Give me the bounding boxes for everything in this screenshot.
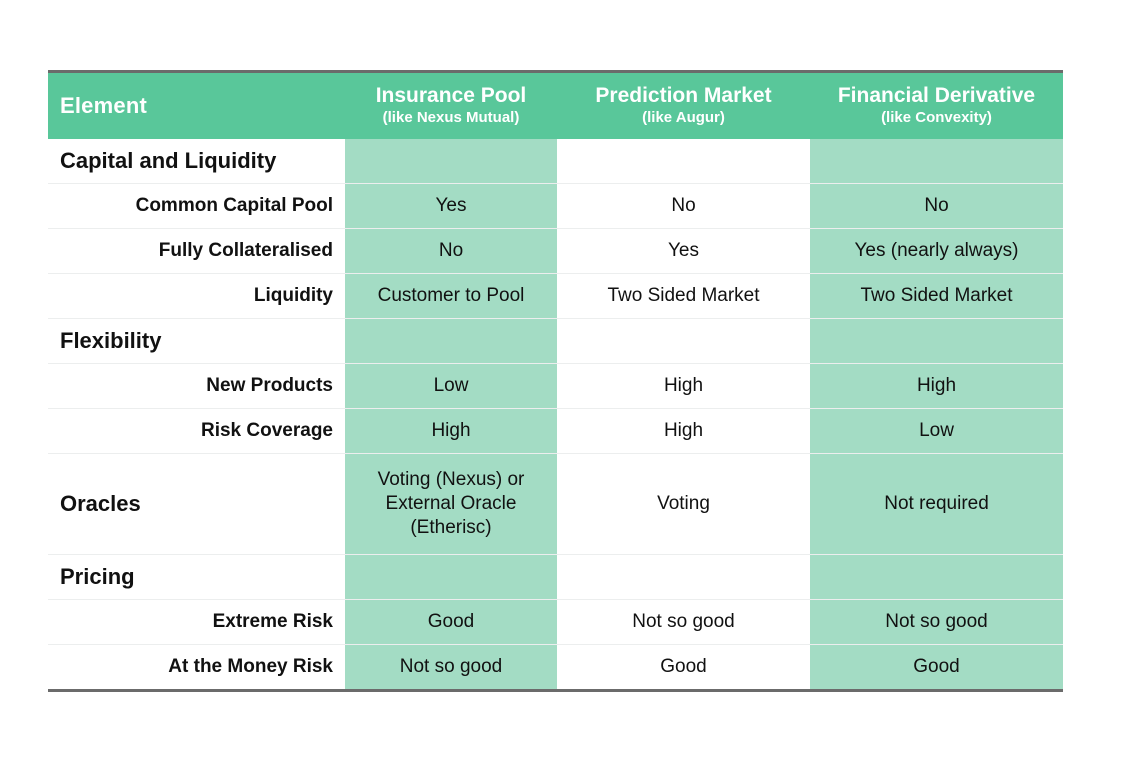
cell-value-text: High [810, 371, 1063, 401]
cell-value-text: High [345, 416, 557, 446]
table-cell-insurance_pool [345, 554, 557, 599]
cell-value-text: Two Sided Market [557, 281, 810, 311]
comparison-table: Element Insurance Pool (like Nexus Mutua… [48, 70, 1063, 692]
cell-value-text: Good [557, 652, 810, 682]
row-label-text: Pricing [60, 564, 345, 590]
table-cell-financial_derivative [810, 554, 1063, 599]
cell-value-text: Two Sided Market [810, 281, 1063, 311]
table-cell-prediction_market [557, 139, 810, 184]
cell-value-text: No [810, 191, 1063, 221]
table-cell-insurance_pool: Voting (Nexus) orExternal Oracle(Etheris… [345, 453, 557, 554]
table-cell-financial_derivative: Two Sided Market [810, 273, 1063, 318]
row-label-item: Liquidity [48, 273, 345, 318]
cell-value-text: Customer to Pool [345, 281, 557, 311]
table-cell-prediction_market [557, 554, 810, 599]
table-header: Element Insurance Pool (like Nexus Mutua… [48, 72, 1063, 139]
row-label-text: Liquidity [48, 285, 333, 307]
column-header-prediction-market-sublabel: (like Augur) [563, 108, 804, 127]
cell-value-line: Not so good [816, 610, 1057, 634]
cell-value-line: Two Sided Market [563, 284, 804, 308]
column-header-prediction-market: Prediction Market (like Augur) [557, 72, 810, 139]
cell-value-text: Not so good [557, 607, 810, 637]
cell-value-text: Voting [557, 489, 810, 519]
cell-value-text: Not required [810, 489, 1063, 519]
table-row: Fully CollateralisedNoYesYes (nearly alw… [48, 228, 1063, 273]
cell-value-line: Voting (Nexus) or [351, 468, 551, 492]
table-cell-prediction_market: High [557, 408, 810, 453]
table-row: New ProductsLowHighHigh [48, 363, 1063, 408]
column-header-insurance-pool-sublabel: (like Nexus Mutual) [351, 108, 551, 127]
table-cell-insurance_pool: High [345, 408, 557, 453]
comparison-table-container: Element Insurance Pool (like Nexus Mutua… [48, 70, 1063, 692]
table-row: At the Money RiskNot so goodGoodGood [48, 644, 1063, 690]
cell-value-line: External Oracle [351, 492, 551, 516]
row-label-item: Fully Collateralised [48, 228, 345, 273]
table-row: Flexibility [48, 318, 1063, 363]
cell-value-text: High [557, 371, 810, 401]
cell-value-line: Two Sided Market [816, 284, 1057, 308]
cell-value-text: Yes (nearly always) [810, 236, 1063, 266]
table-cell-prediction_market [557, 318, 810, 363]
cell-value-text: Yes [345, 191, 557, 221]
cell-value-line: No [351, 239, 551, 263]
table-cell-financial_derivative [810, 139, 1063, 184]
column-header-financial-derivative: Financial Derivative (like Convexity) [810, 72, 1063, 139]
column-header-prediction-market-label: Prediction Market [563, 84, 804, 108]
row-label-text: Capital and Liquidity [60, 148, 345, 174]
table-cell-financial_derivative: Good [810, 644, 1063, 690]
table-cell-prediction_market: Yes [557, 228, 810, 273]
cell-value-line: High [563, 374, 804, 398]
cell-value-line: High [351, 419, 551, 443]
cell-value-line: (Etherisc) [351, 516, 551, 540]
column-header-financial-derivative-label: Financial Derivative [816, 84, 1057, 108]
table-cell-prediction_market: Good [557, 644, 810, 690]
table-row: LiquidityCustomer to PoolTwo Sided Marke… [48, 273, 1063, 318]
cell-value-line: High [816, 374, 1057, 398]
cell-value-text: Yes [557, 236, 810, 266]
table-row: Risk CoverageHighHighLow [48, 408, 1063, 453]
cell-value-text: Voting (Nexus) orExternal Oracle(Etheris… [345, 465, 557, 543]
table-cell-insurance_pool: Low [345, 363, 557, 408]
row-label-text: Risk Coverage [48, 420, 333, 442]
cell-value-text: No [557, 191, 810, 221]
table-cell-financial_derivative: Not so good [810, 599, 1063, 644]
cell-value-line: Yes [351, 194, 551, 218]
row-label-text: Common Capital Pool [48, 195, 333, 217]
cell-value-line: Good [816, 655, 1057, 679]
row-label-section: Oracles [48, 453, 345, 554]
table-cell-insurance_pool [345, 139, 557, 184]
cell-value-line: No [563, 194, 804, 218]
table-cell-insurance_pool: Not so good [345, 644, 557, 690]
column-header-element-label: Element [60, 93, 147, 118]
cell-value-line: Low [351, 374, 551, 398]
cell-value-line: Customer to Pool [351, 284, 551, 308]
table-row: Capital and Liquidity [48, 139, 1063, 184]
table-row: Extreme RiskGoodNot so goodNot so good [48, 599, 1063, 644]
table-cell-financial_derivative: No [810, 183, 1063, 228]
cell-value-line: Good [351, 610, 551, 634]
cell-value-line: No [816, 194, 1057, 218]
row-label-text: Oracles [60, 491, 345, 517]
row-label-item: Common Capital Pool [48, 183, 345, 228]
header-row: Element Insurance Pool (like Nexus Mutua… [48, 72, 1063, 139]
row-label-text: New Products [48, 375, 333, 397]
cell-value-text: Good [345, 607, 557, 637]
table-cell-insurance_pool: No [345, 228, 557, 273]
cell-value-text: Low [345, 371, 557, 401]
table-cell-prediction_market: Two Sided Market [557, 273, 810, 318]
table-cell-insurance_pool: Yes [345, 183, 557, 228]
cell-value-line: High [563, 419, 804, 443]
row-label-section: Pricing [48, 554, 345, 599]
cell-value-line: Not so good [351, 655, 551, 679]
cell-value-line: Good [563, 655, 804, 679]
table-cell-prediction_market: No [557, 183, 810, 228]
table-cell-insurance_pool: Good [345, 599, 557, 644]
cell-value-line: Low [816, 419, 1057, 443]
row-label-section: Capital and Liquidity [48, 139, 345, 184]
table-cell-financial_derivative: Low [810, 408, 1063, 453]
table-cell-financial_derivative: Not required [810, 453, 1063, 554]
row-label-text: Extreme Risk [48, 611, 333, 633]
table-cell-prediction_market: Voting [557, 453, 810, 554]
cell-value-text: Good [810, 652, 1063, 682]
cell-value-line: Not so good [563, 610, 804, 634]
table-row: Common Capital PoolYesNoNo [48, 183, 1063, 228]
row-label-text: Flexibility [60, 328, 345, 354]
column-header-insurance-pool-label: Insurance Pool [351, 84, 551, 108]
row-label-item: Extreme Risk [48, 599, 345, 644]
cell-value-text: Not so good [345, 652, 557, 682]
row-label-item: Risk Coverage [48, 408, 345, 453]
table-cell-financial_derivative: High [810, 363, 1063, 408]
table-cell-financial_derivative [810, 318, 1063, 363]
cell-value-text: Not so good [810, 607, 1063, 637]
column-header-financial-derivative-sublabel: (like Convexity) [816, 108, 1057, 127]
row-label-item: At the Money Risk [48, 644, 345, 690]
table-cell-prediction_market: Not so good [557, 599, 810, 644]
table-cell-financial_derivative: Yes (nearly always) [810, 228, 1063, 273]
table-cell-insurance_pool: Customer to Pool [345, 273, 557, 318]
row-label-text: Fully Collateralised [48, 240, 333, 262]
table-body: Capital and LiquidityCommon Capital Pool… [48, 139, 1063, 691]
row-label-section: Flexibility [48, 318, 345, 363]
row-label-text: At the Money Risk [48, 656, 333, 678]
table-cell-insurance_pool [345, 318, 557, 363]
table-row: Pricing [48, 554, 1063, 599]
cell-value-line: Yes (nearly always) [816, 239, 1057, 263]
cell-value-line: Yes [563, 239, 804, 263]
cell-value-text: Low [810, 416, 1063, 446]
cell-value-text: High [557, 416, 810, 446]
column-header-insurance-pool: Insurance Pool (like Nexus Mutual) [345, 72, 557, 139]
column-header-element: Element [48, 72, 345, 139]
table-cell-prediction_market: High [557, 363, 810, 408]
row-label-item: New Products [48, 363, 345, 408]
table-row: OraclesVoting (Nexus) orExternal Oracle(… [48, 453, 1063, 554]
cell-value-text: No [345, 236, 557, 266]
cell-value-line: Voting [563, 492, 804, 516]
cell-value-line: Not required [816, 492, 1057, 516]
